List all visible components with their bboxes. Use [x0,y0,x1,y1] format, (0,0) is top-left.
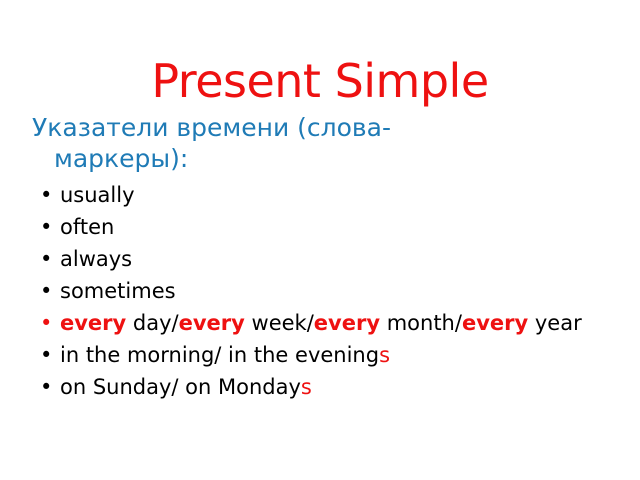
bullet-dot-icon: • [40,275,52,307]
bullet-dot-icon: • [40,371,52,403]
list-item-label: every day/every week/every month/every y… [60,311,582,335]
text-segment: day/ [126,311,178,335]
subtitle-line-1: Указатели времени (слова- [32,113,391,142]
list-item-label: in the morning/ in the evenings [60,343,390,367]
text-segment: every [314,311,380,335]
subtitle-text: Указатели времени (слова- маркеры): [28,112,458,174]
presentation-slide: Present Simple Указатели времени (слова-… [0,0,640,480]
text-segment: s [379,343,390,367]
bullet-dot-icon: • [40,211,52,243]
list-item: •every day/every week/every month/every … [28,307,628,339]
slide-body: Указатели времени (слова- маркеры): •usu… [28,112,628,403]
bullet-dot-icon: • [40,243,52,275]
text-segment: s [301,375,312,399]
list-item-label: always [60,247,132,271]
bullet-dot-icon: • [40,339,52,371]
list-item: •always [28,243,628,275]
time-marker-list: •usually•often•always•sometimes•every da… [28,179,628,403]
text-segment: every [60,311,126,335]
text-segment: month/ [380,311,462,335]
list-item-label: on Sunday/ on Mondays [60,375,312,399]
list-item: •sometimes [28,275,628,307]
text-segment: year [528,311,582,335]
text-segment: week/ [245,311,314,335]
list-item: •usually [28,179,628,211]
text-segment: every [462,311,528,335]
text-segment: every [179,311,245,335]
text-segment: always [60,247,132,271]
bullet-dot-icon: • [40,307,52,339]
text-segment: on Sunday/ on Monday [60,375,301,399]
text-segment: in the morning/ in the evening [60,343,379,367]
list-item: •in the morning/ in the evenings [28,339,628,371]
list-item: •often [28,211,628,243]
text-segment: sometimes [60,279,176,303]
list-item-label: often [60,215,114,239]
bullet-dot-icon: • [40,179,52,211]
subtitle-line-2: маркеры): [28,143,458,174]
list-item-label: sometimes [60,279,176,303]
list-item-label: usually [60,183,135,207]
text-segment: usually [60,183,135,207]
slide-title: Present Simple [0,55,640,107]
text-segment: often [60,215,114,239]
list-item: •on Sunday/ on Mondays [28,371,628,403]
